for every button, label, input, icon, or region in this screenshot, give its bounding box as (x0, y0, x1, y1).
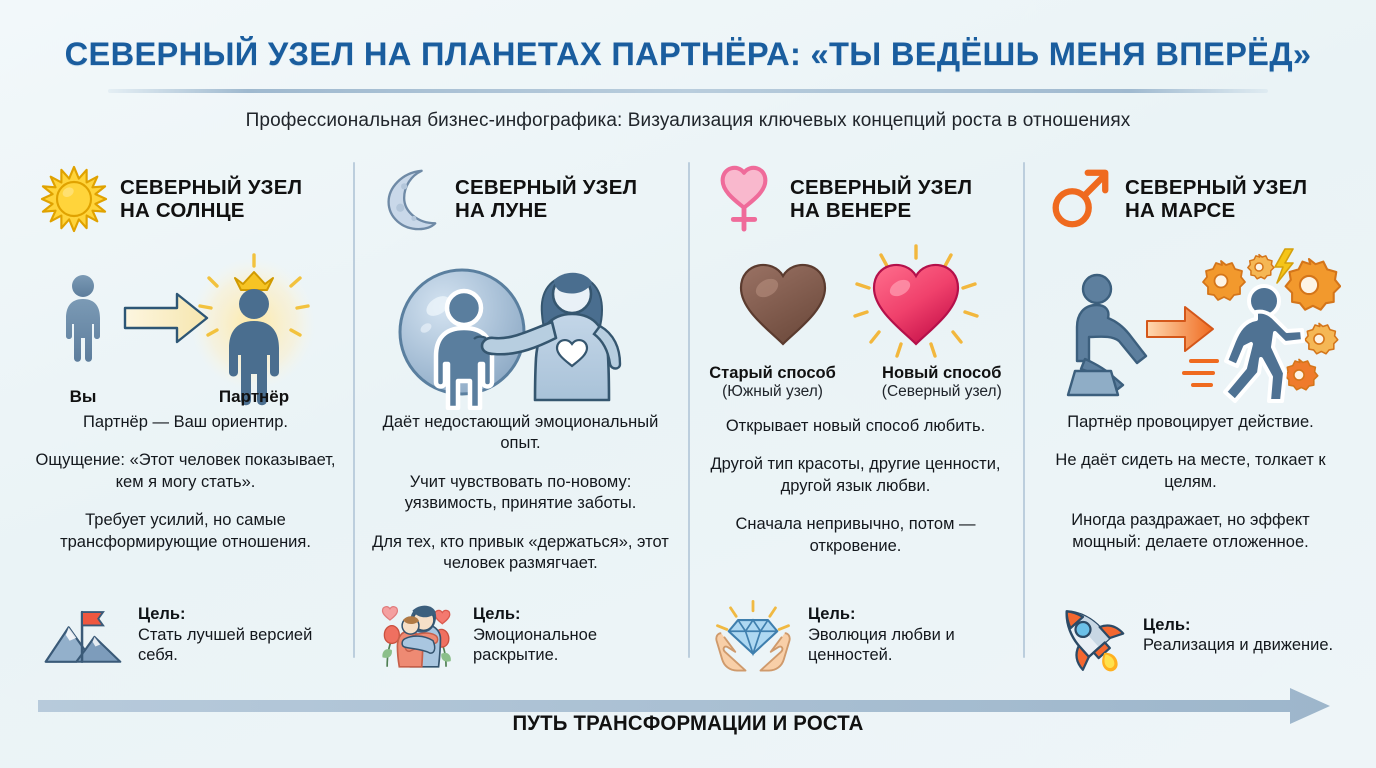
paragraph: Учит чувствовать по-новому: уязвимость, … (367, 472, 674, 515)
figure-you (66, 275, 100, 362)
label-you: Вы (69, 387, 96, 406)
old-way-label: Старый способ (Южный узел) (709, 364, 836, 402)
column-title-mars: СЕВЕРНЫЙ УЗЕЛ НА МАРСЕ (1125, 176, 1307, 222)
paragraph: Ощущение: «Этот человек показывает, кем … (32, 450, 339, 493)
goal-block-sun: Цель: Стать лучшей версией себя. (32, 592, 339, 676)
mountain-flag-icon (40, 598, 126, 672)
rocket-icon (1045, 598, 1131, 672)
goal-description: Стать лучшей версией себя. (138, 626, 312, 664)
title-divider (108, 89, 1268, 93)
paragraph: Партнёр — Ваш ориентир. (32, 412, 339, 433)
column-header-venus: СЕВЕРНЫЙ УЗЕЛ НА ВЕНЕРЕ (702, 156, 1009, 242)
new-way-title: Новый способ (882, 364, 1002, 383)
paragraph: Даёт недостающий эмоциональный опыт. (367, 412, 674, 455)
label-partner: Партнёр (218, 387, 288, 406)
paragraph: Открывает новый способ любить. (702, 416, 1009, 437)
column-header-moon: СЕВЕРНЫЙ УЗЕЛ НА ЛУНЕ (367, 156, 674, 242)
moon-icon (375, 162, 443, 236)
goal-block-venus: Цель: Эволюция любви и ценностей. (702, 592, 1009, 676)
column-header-mars: СЕВЕРНЫЙ УЗЕЛ НА МАРСЕ (1037, 156, 1344, 242)
new-way-label: Новый способ (Северный узел) (882, 364, 1002, 402)
two-hearts-old-new-illustration (711, 244, 1001, 368)
body-text-sun: Партнёр — Ваш ориентир. Ощущение: «Этот … (32, 410, 339, 570)
page-subtitle: Профессиональная бизнес-инфографика: Виз… (0, 110, 1376, 132)
paragraph: Иногда раздражает, но эффект мощный: дел… (1037, 510, 1344, 553)
body-text-venus: Открывает новый способ любить. Другой ти… (702, 414, 1009, 574)
column-header-sun: СЕВЕРНЫЙ УЗЕЛ НА СОЛНЦЕ (32, 156, 339, 242)
goal-text-venus: Цель: Эволюция любви и ценностей. (808, 604, 1005, 665)
hands-holding-diamond-icon (710, 598, 796, 672)
old-way-title: Старый способ (709, 364, 836, 383)
column-sun: СЕВЕРНЫЙ УЗЕЛ НА СОЛНЦЕ (18, 156, 353, 676)
mars-icon (1045, 162, 1113, 236)
sun-icon (40, 162, 108, 236)
old-way-heart (741, 265, 825, 344)
column-title-line2: НА МАРСЕ (1125, 199, 1307, 222)
illustration-embrace-bubble (367, 242, 674, 410)
column-title-moon: СЕВЕРНЫЙ УЗЕЛ НА ЛУНЕ (455, 176, 637, 222)
column-title-sun: СЕВЕРНЫЙ УЗЕЛ НА СОЛНЦЕ (120, 176, 302, 222)
illustration-two-hearts (702, 242, 1009, 370)
footer: ПУТЬ ТРАНСФОРМАЦИИ И РОСТА (0, 676, 1376, 768)
venus-heart-labels: Старый способ (Южный узел) Новый способ … (702, 364, 1009, 402)
paragraph: Не даёт сидеть на месте, толкает к целям… (1037, 450, 1344, 493)
column-title-line2: НА СОЛНЦЕ (120, 199, 302, 222)
goal-description: Эволюция любви и ценностей. (808, 626, 955, 664)
hugging-couple-flowers-icon (375, 598, 461, 672)
column-title-line1: СЕВЕРНЫЙ УЗЕЛ (455, 176, 637, 199)
illustration-sitting-to-running (1037, 242, 1344, 410)
infographic-page: СЕВЕРНЫЙ УЗЕЛ НА ПЛАНЕТАХ ПАРТНЁРА: «ТЫ … (0, 0, 1376, 768)
page-title: СЕВЕРНЫЙ УЗЕЛ НА ПЛАНЕТАХ ПАРТНЁРА: «ТЫ … (0, 36, 1376, 73)
goal-description: Реализация и движение. (1143, 636, 1333, 654)
paragraph: Другой тип красоты, другие ценности, дру… (702, 454, 1009, 497)
illustration-you-to-partner: Вы Партнёр (32, 242, 339, 410)
body-text-mars: Партнёр провоцирует действие. Не даёт си… (1037, 410, 1344, 570)
column-title-line1: СЕВЕРНЫЙ УЗЕЛ (120, 176, 302, 199)
goal-label: Цель: (138, 604, 335, 624)
goal-label: Цель: (808, 604, 1005, 624)
goal-text-moon: Цель: Эмоциональное раскрытие. (473, 604, 670, 665)
new-way-subtitle: (Северный узел) (882, 383, 1002, 401)
venus-heart-icon (710, 162, 778, 236)
paragraph: Сначала непривычно, потом — откровение. (702, 514, 1009, 557)
column-title-line1: СЕВЕРНЫЙ УЗЕЛ (1125, 176, 1307, 199)
diamond-icon (729, 620, 778, 654)
header: СЕВЕРНЫЙ УЗЕЛ НА ПЛАНЕТАХ ПАРТНЁРА: «ТЫ … (0, 0, 1376, 132)
goal-text-sun: Цель: Стать лучшей версией себя. (138, 604, 335, 665)
comforting-embrace-bubble-illustration (376, 242, 666, 410)
new-way-heart (874, 265, 958, 344)
columns-container: СЕВЕРНЫЙ УЗЕЛ НА СОЛНЦЕ (18, 156, 1358, 676)
column-moon: СЕВЕРНЫЙ УЗЕЛ НА ЛУНЕ (353, 156, 688, 676)
body-text-moon: Даёт недостающий эмоциональный опыт. Учи… (367, 410, 674, 592)
figure-sitting (1068, 275, 1146, 395)
column-title-line2: НА ВЕНЕРЕ (790, 199, 972, 222)
goal-label: Цель: (1143, 615, 1333, 635)
footer-caption: ПУТЬ ТРАНСФОРМАЦИИ И РОСТА (21, 712, 1356, 736)
paragraph: Для тех, кто привык «держаться», этот че… (367, 532, 674, 575)
paragraph: Партнёр провоцирует действие. (1037, 412, 1344, 433)
goal-text-mars: Цель: Реализация и движение. (1143, 615, 1333, 656)
column-title-line2: НА ЛУНЕ (455, 199, 637, 222)
old-way-subtitle: (Южный узел) (709, 383, 836, 401)
action-arrow (1147, 307, 1213, 351)
column-title-venus: СЕВЕРНЫЙ УЗЕЛ НА ВЕНЕРЕ (790, 176, 972, 222)
column-mars: СЕВЕРНЫЙ УЗЕЛ НА МАРСЕ (1023, 156, 1358, 676)
column-title-line1: СЕВЕРНЫЙ УЗЕЛ (790, 176, 972, 199)
speed-lines (1184, 361, 1217, 385)
goal-label: Цель: (473, 604, 670, 624)
sitting-to-running-gears-illustration (1041, 243, 1341, 409)
goal-block-mars: Цель: Реализация и движение. (1037, 592, 1344, 676)
goal-description: Эмоциональное раскрытие. (473, 626, 597, 664)
you-to-partner-arrow-illustration: Вы Партнёр (41, 246, 331, 406)
paragraph: Требует усилий, но самые трансформирующи… (32, 510, 339, 553)
goal-block-moon: Цель: Эмоциональное раскрытие. (367, 592, 674, 676)
column-venus: СЕВЕРНЫЙ УЗЕЛ НА ВЕНЕРЕ (688, 156, 1023, 676)
